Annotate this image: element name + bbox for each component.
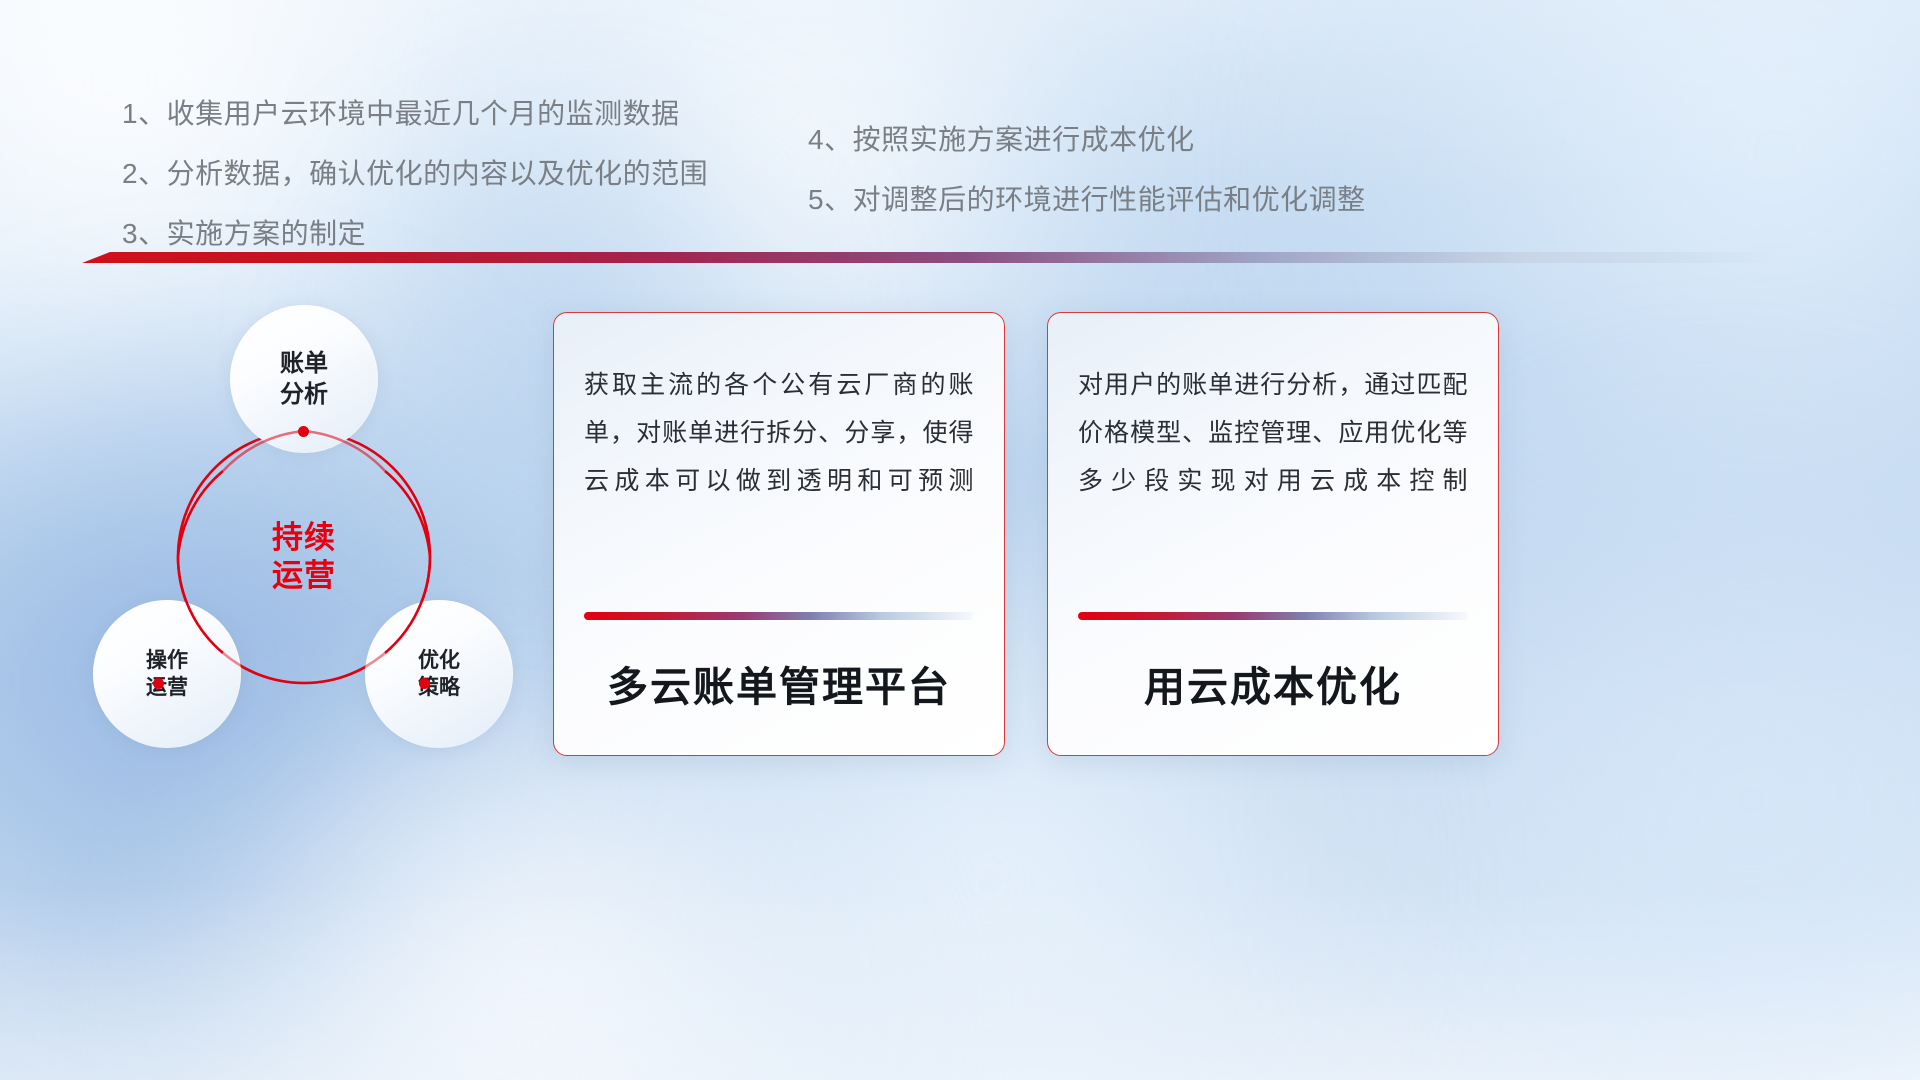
card-1-body: 获取主流的各个公有云厂商的账单，对账单进行拆分、分享，使得云成本可以做到透明和可… (584, 361, 974, 505)
card-2-title: 用云成本优化 (1048, 653, 1498, 713)
venn-diagram: 账单 分析 操作 运营 优化 策略 持续 运营 (75, 288, 585, 778)
venn-connector-dot-left (153, 678, 164, 689)
venn-center-label: 持续 运营 (272, 519, 336, 595)
card-cloud-cost-optimization[interactable]: 对用户的账单进行分析，通过匹配价格模型、监控管理、应用优化等多少段实现对用云成本… (1047, 312, 1499, 756)
card-1-rule (584, 612, 974, 620)
step-item-5: 5、对调整后的环境进行性能评估和优化调整 (808, 186, 1366, 214)
divider-bar (82, 252, 1782, 263)
venn-center-line1: 持续 (272, 519, 336, 557)
venn-node-top-label: 账单 分析 (280, 348, 328, 410)
section-divider (82, 252, 1782, 263)
steps-right-column: 4、按照实施方案进行成本优化 5、对调整后的环境进行性能评估和优化调整 (808, 126, 1366, 246)
venn-center-line2: 运营 (272, 557, 336, 595)
venn-connector-dot-right (419, 678, 430, 689)
card-2-rule (1078, 612, 1468, 620)
step-item-2: 2、分析数据，确认优化的内容以及优化的范围 (122, 160, 708, 188)
step-item-3: 3、实施方案的制定 (122, 220, 708, 248)
step-item-4: 4、按照实施方案进行成本优化 (808, 126, 1366, 154)
venn-connector-dot-top (298, 426, 309, 437)
card-multicloud-billing-platform[interactable]: 获取主流的各个公有云厂商的账单，对账单进行拆分、分享，使得云成本可以做到透明和可… (553, 312, 1005, 756)
step-item-1: 1、收集用户云环境中最近几个月的监测数据 (122, 100, 708, 128)
card-1-title: 多云账单管理平台 (554, 653, 1004, 713)
venn-center: 持续 运营 (178, 431, 430, 683)
venn-node-top-line2: 分析 (280, 379, 328, 410)
venn-node-top-line1: 账单 (280, 348, 328, 379)
card-2-body: 对用户的账单进行分析，通过匹配价格模型、监控管理、应用优化等多少段实现对用云成本… (1078, 361, 1468, 505)
